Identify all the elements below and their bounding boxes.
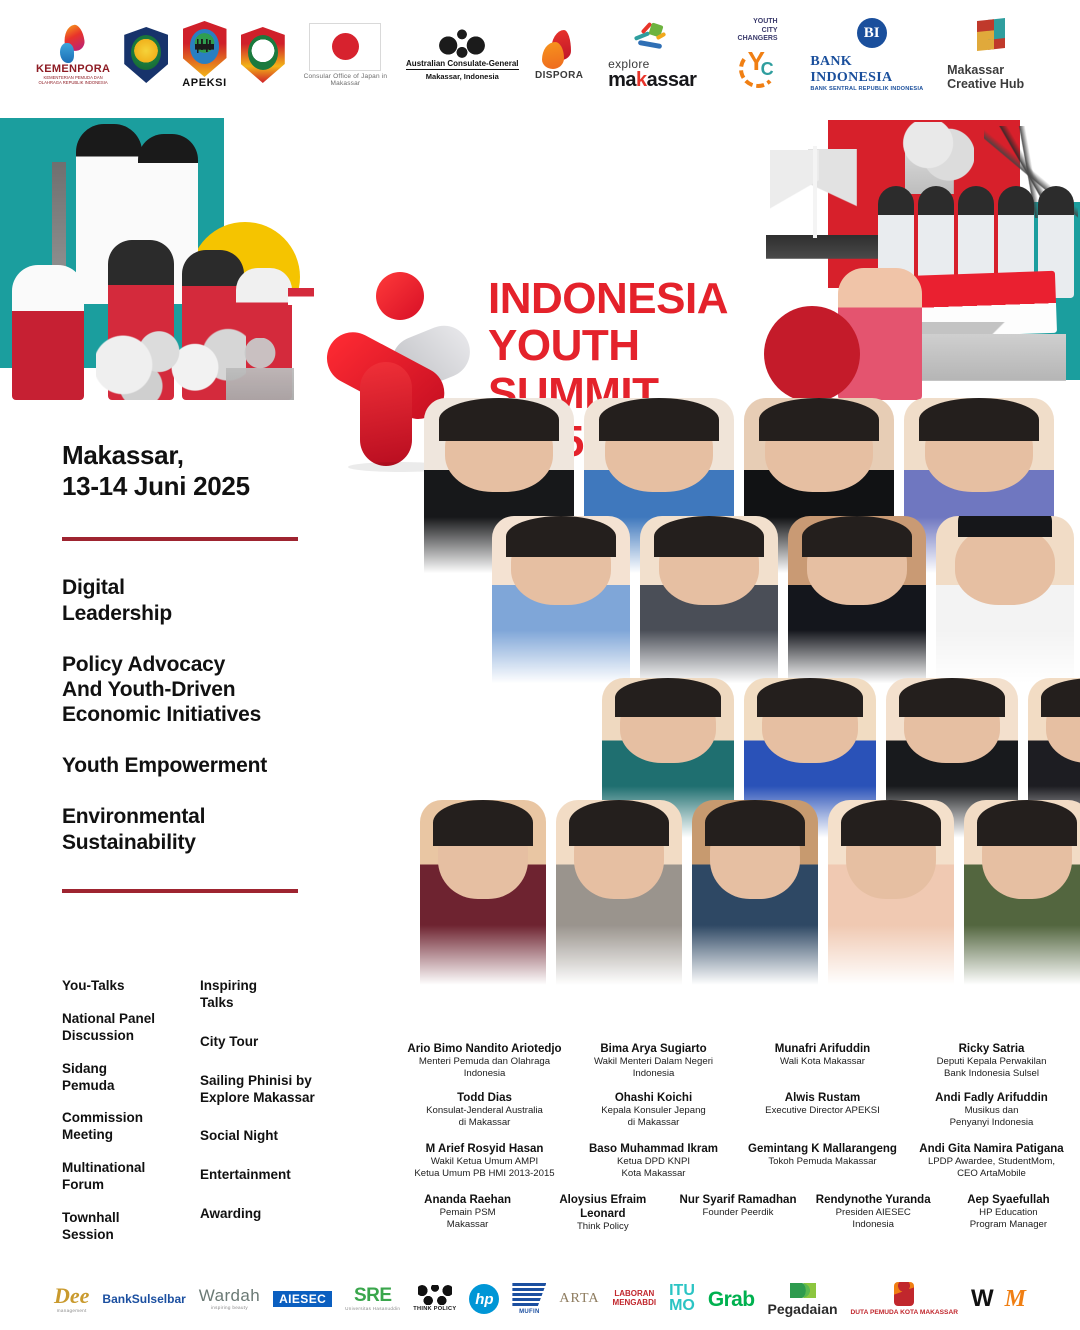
divider-bottom: [62, 889, 298, 893]
sponsor-duta-pemuda: DUTA PEMUDA KOTA MAKASSAR: [851, 1282, 958, 1317]
speaker-photo: [936, 516, 1074, 688]
sponsor-aiesec: AIESEC: [273, 1291, 332, 1307]
speaker-name: Ario Bimo Nandito Ariotedjo: [404, 1042, 565, 1056]
logo-bi-title: BANK INDONESIA: [810, 54, 933, 86]
speaker-caption: Aep Syaefullah HP EducationProgram Manag…: [941, 1193, 1076, 1234]
speaker-caption: Ricky Satria Deputi Kepala PerwakilanBan…: [907, 1042, 1076, 1081]
speaker-name: Ohashi Koichi: [573, 1091, 734, 1105]
sponsor-duta-label: DUTA PEMUDA KOTA MAKASSAR: [851, 1309, 958, 1317]
ycc-monogram-icon: Y C: [735, 46, 781, 92]
speaker-name: Bima Arya Sugiarto: [573, 1042, 734, 1056]
logo-japan-consulate: Consular Office of Japan in Makassar: [299, 23, 392, 88]
speaker-role: Deputi Kepala PerwakilanBank Indonesia S…: [911, 1056, 1072, 1081]
theme-environmental-sustainability: Environmental Sustainability: [62, 804, 362, 854]
sponsor-pegadaian: Pegadaian: [768, 1283, 838, 1316]
sponsor-sre-unhas: SRE Universitas Hasanuddin: [345, 1286, 400, 1312]
sponsor-grab: Grab: [708, 1289, 755, 1310]
caption-row-4: Ananda Raehan Pemain PSMMakassar Aloysiu…: [400, 1193, 1076, 1234]
w-logo-icon: W: [971, 1287, 992, 1311]
logo-explore-main: makassar: [608, 70, 696, 90]
agenda-item: City Tour: [200, 1034, 382, 1051]
speaker-name: Nur Syarif Ramadhan: [674, 1193, 801, 1207]
sponsor-dee-management: Dee management: [54, 1285, 89, 1314]
speaker-caption: Rendynothe Yuranda Presiden AIESECIndone…: [806, 1193, 941, 1234]
logo-ycc-line2: CITY: [738, 27, 778, 36]
agenda-item: CommissionMeeting: [62, 1110, 192, 1144]
mufin-icon: [512, 1283, 546, 1307]
logo-explore-makassar: explore makassar: [600, 20, 705, 90]
theme-youth-empowerment: Youth Empowerment: [62, 753, 362, 778]
speaker-role: Pemain PSMMakassar: [404, 1207, 531, 1232]
fort-rotterdam-silhouette: [916, 322, 1066, 400]
speaker-caption: Alwis Rustam Executive Director APEKSI: [738, 1091, 907, 1130]
grab-icon: Grab: [708, 1289, 755, 1310]
garuda-shield-icon: [124, 27, 168, 83]
agenda-item: TownhallSession: [62, 1210, 192, 1244]
sponsor-m-brand: M: [1005, 1287, 1026, 1311]
speaker-name: Todd Dias: [404, 1091, 565, 1105]
speaker-photo: [964, 800, 1080, 990]
speaker-photo-row-4: [420, 800, 1080, 990]
theme-2-line-3: Economic Initiatives: [62, 702, 362, 727]
japan-flag-icon: [309, 23, 381, 71]
city-shield-icon: [183, 21, 227, 77]
australia-crest-icon: [439, 29, 485, 59]
agenda-item: Entertainment: [200, 1167, 382, 1184]
theme-policy-advocacy: Policy Advocacy And Youth-Driven Economi…: [62, 652, 362, 728]
speaker-caption: Baso Muhammad Ikram Ketua DPD KNPIKota M…: [569, 1142, 738, 1181]
theme-1-line-2: Leadership: [62, 601, 362, 626]
sponsor-itumo-line2: MO: [669, 1299, 695, 1314]
speaker-caption: Ananda Raehan Pemain PSMMakassar: [400, 1193, 535, 1234]
speaker-role: Konsulat-Jenderal Australiadi Makassar: [404, 1105, 565, 1130]
agenda-column-left: You-Talks National PanelDiscussion Sidan…: [62, 978, 192, 1260]
sponsor-bank-sulselbar: BankSulselbar: [102, 1293, 185, 1305]
speaker-name: Andi Fadly Arifuddin: [911, 1091, 1072, 1105]
logo-explore-ma: ma: [608, 69, 636, 91]
speaker-name: Gemintang K Mallarangeng: [742, 1142, 903, 1156]
event-date: 13-14 Juni 2025: [62, 471, 362, 502]
speaker-role: Musikus danPenyanyi Indonesia: [911, 1105, 1072, 1130]
flame-icon: [541, 30, 577, 70]
event-location: Makassar,: [62, 440, 362, 471]
speaker-role: Founder Peerdik: [674, 1207, 801, 1219]
agenda-lists: You-Talks National PanelDiscussion Sidan…: [62, 978, 382, 1260]
duta-pemuda-icon: [894, 1282, 914, 1306]
hero-band: INDONESIA YOUTH SUMMIT 2025: [0, 110, 1080, 400]
speaker-photo: [640, 516, 778, 688]
speaker-photo: [788, 516, 926, 688]
caption-row-3: M Arief Rosyid Hasan Wakil Ketua Umum AM…: [400, 1142, 1076, 1181]
agenda-column-right: InspiringTalks City Tour Sailing Phinisi…: [200, 978, 382, 1260]
dee-script-icon: Dee: [54, 1285, 89, 1307]
logo-japan-caption: Consular Office of Japan in Makassar: [299, 73, 392, 88]
theme-1-line-1: Digital: [62, 575, 362, 600]
agenda-item: Sailing Phinisi byExplore Makassar: [200, 1073, 382, 1107]
title-line-1: INDONESIA: [488, 275, 728, 323]
arta-icon: ARTA: [559, 1292, 599, 1306]
speaker-name: Rendynothe Yuranda: [810, 1193, 937, 1207]
speaker-name: Aloysius Efraim Leonard: [539, 1193, 666, 1221]
speaker-role: Kepala Konsuler Jepangdi Makassar: [573, 1105, 734, 1130]
speaker-caption: M Arief Rosyid Hasan Wakil Ketua Umum AM…: [400, 1142, 569, 1181]
speaker-caption: Andi Fadly Arifuddin Musikus danPenyanyi…: [907, 1091, 1076, 1130]
sponsor-mufin-label: MUFIN: [519, 1309, 540, 1315]
speaker-name: Munafri Arifuddin: [742, 1042, 903, 1056]
logo-kemendagri: [124, 27, 168, 83]
agenda-item: MultinationalForum: [62, 1160, 192, 1194]
hero-collage-left: [0, 110, 340, 400]
caption-row-2: Todd Dias Konsulat-Jenderal Australiadi …: [400, 1091, 1076, 1130]
logo-sulsel: [241, 27, 285, 83]
aiesec-icon: AIESEC: [273, 1291, 332, 1307]
itumo-icon: ITU MO: [669, 1284, 695, 1313]
agenda-item: Social Night: [200, 1128, 382, 1145]
sponsor-laboran-mengabdi: LABORAN MENGABDI: [613, 1290, 657, 1308]
speaker-role: Wakil Menteri Dalam NegeriIndonesia: [573, 1056, 734, 1081]
logo-australia-title: Australian Consulate-General: [406, 59, 518, 70]
logo-kemenpora: KEMENPORA KEMENTERIAN PEMUDA DAN OLAHRAG…: [36, 25, 110, 86]
speaker-role: Ketua DPD KNPIKota Makassar: [573, 1156, 734, 1181]
speaker-caption: Ario Bimo Nandito Ariotedjo Menteri Pemu…: [400, 1042, 569, 1081]
sre-icon: SRE: [354, 1286, 392, 1305]
sponsor-dee-sub: management: [57, 1309, 87, 1314]
speaker-caption: Gemintang K Mallarangeng Tokoh Pemuda Ma…: [738, 1142, 907, 1181]
speaker-captions: Ario Bimo Nandito Ariotedjo Menteri Pemu…: [400, 1042, 1076, 1233]
logo-ycc-c: C: [761, 60, 774, 78]
sponsor-logo-bar: Dee management BankSulselbar Wardah insp…: [0, 1268, 1080, 1330]
theme-4-line-1: Environmental: [62, 804, 362, 829]
speaker-role: Menteri Pemuda dan OlahragaIndonesia: [404, 1056, 565, 1081]
flame-torch-icon: [56, 25, 90, 63]
sponsor-sre-sub: Universitas Hasanuddin: [345, 1307, 400, 1312]
agenda-item: National PanelDiscussion: [62, 1011, 192, 1045]
logo-apeksi-label: APEKSI: [182, 77, 227, 89]
poster-root: KEMENPORA KEMENTERIAN PEMUDA DAN OLAHRAG…: [0, 0, 1080, 1330]
flower-collage: [96, 322, 246, 400]
agenda-item: You-Talks: [62, 978, 192, 995]
divider-top: [62, 537, 298, 541]
logo-apeksi: APEKSI: [182, 21, 227, 89]
speaker-name: Baso Muhammad Ikram: [573, 1142, 734, 1156]
youth-figure-selfie: [12, 265, 84, 400]
sponsor-wardah-sub: inspiring beauty: [211, 1306, 248, 1311]
speaker-caption: Nur Syarif Ramadhan Founder Peerdik: [670, 1193, 805, 1234]
sponsor-laboran-line2: MENGABDI: [613, 1299, 657, 1308]
logo-kemenpora-sub: KEMENTERIAN PEMUDA DAN OLAHRAGA REPUBLIK…: [36, 75, 110, 86]
logo-australia-consulate: Australian Consulate-General Makassar, I…: [406, 29, 518, 81]
event-location-date: Makassar, 13-14 Juni 2025: [62, 440, 362, 501]
speaker-photo: [692, 800, 818, 990]
logo-makassar-creative-hub: Makassar Creative Hub: [947, 19, 1044, 91]
caption-row-1: Ario Bimo Nandito Ariotedjo Menteri Pemu…: [400, 1042, 1076, 1081]
phinisi-ship-icon: [766, 146, 888, 278]
logo-mch-label: Makassar Creative Hub: [947, 63, 1044, 91]
sponsor-w-brand: W: [971, 1287, 992, 1311]
logo-ycc-line3: CHANGERS: [738, 35, 778, 44]
sponsor-mufin: MUFIN: [512, 1283, 546, 1315]
logo-bi-sub: BANK SENTRAL REPUBLIK INDONESIA: [810, 86, 933, 92]
speaker-name: Ananda Raehan: [404, 1193, 531, 1207]
speaker-role: Executive Director APEKSI: [742, 1105, 903, 1117]
logo-ycc-line1: YOUTH: [738, 18, 778, 27]
speaker-name: M Arief Rosyid Hasan: [404, 1142, 565, 1156]
agenda-item: InspiringTalks: [200, 978, 382, 1012]
logo-dispora: DISPORA: [533, 30, 586, 81]
m-logo-icon: M: [1005, 1287, 1026, 1311]
speaker-name: Alwis Rustam: [742, 1091, 903, 1105]
logo-ycc-text: YOUTH CITY CHANGERS: [738, 18, 778, 44]
speaker-role: Presiden AIESECIndonesia: [810, 1207, 937, 1232]
speaker-caption: Ohashi Koichi Kepala Konsuler Jepangdi M…: [569, 1091, 738, 1130]
mosque-silhouette: [226, 338, 294, 400]
speaker-photo: [492, 516, 630, 688]
logo-explore-assar: assar: [647, 69, 697, 91]
speaker-role: Wali Kota Makassar: [742, 1056, 903, 1068]
speaker-role: Tokoh Pemuda Makassar: [742, 1156, 903, 1168]
title-line-2: YOUTH: [488, 322, 728, 370]
speaker-caption: Munafri Arifuddin Wali Kota Makassar: [738, 1042, 907, 1081]
logo-kemenpora-label: KEMENPORA: [36, 63, 110, 75]
logo-explore-k: k: [636, 69, 647, 91]
sponsor-wardah: Wardah inspiring beauty: [199, 1287, 260, 1311]
sponsor-arta: ARTA: [559, 1292, 599, 1306]
bank-indonesia-icon: BI: [857, 18, 887, 48]
logo-australia-sub: Makassar, Indonesia: [426, 72, 499, 81]
red-circle: [764, 306, 860, 400]
theme-2-line-2: And Youth-Driven: [62, 677, 362, 702]
theme-2-line-1: Policy Advocacy: [62, 652, 362, 677]
hp-icon: hp: [469, 1284, 499, 1314]
agenda-item: Awarding: [200, 1206, 382, 1223]
province-shield-icon: [241, 27, 285, 83]
sponsor-itumo: ITU MO: [669, 1284, 695, 1313]
microscope-icon: LABORAN MENGABDI: [613, 1290, 657, 1308]
sponsor-think-policy-label: THINK POLICY: [413, 1307, 456, 1313]
speaker-caption: Todd Dias Konsulat-Jenderal Australiadi …: [400, 1091, 569, 1130]
agenda-item: SidangPemuda: [62, 1061, 192, 1095]
theme-4-line-2: Sustainability: [62, 830, 362, 855]
speaker-role: Think Policy: [539, 1221, 666, 1233]
mch-cube-icon: [977, 17, 1015, 59]
speaker-caption: Bima Arya Sugiarto Wakil Menteri Dalam N…: [569, 1042, 738, 1081]
speaker-name: Ricky Satria: [911, 1042, 1072, 1056]
sponsor-think-policy: THINK POLICY: [413, 1285, 456, 1313]
partner-logo-bar: KEMENPORA KEMENTERIAN PEMUDA DAN OLAHRAG…: [0, 0, 1080, 110]
sponsor-pegadaian-label: Pegadaian: [768, 1302, 838, 1316]
logo-youth-city-changers: YOUTH CITY CHANGERS Y C: [719, 18, 797, 92]
pegadaian-icon: [790, 1283, 816, 1298]
speaker-name: Aep Syaefullah: [945, 1193, 1072, 1207]
speaker-photo: [420, 800, 546, 990]
theme-3-line-1: Youth Empowerment: [62, 753, 362, 778]
sponsor-hp: hp: [469, 1284, 499, 1314]
sponsor-sulselbar-label: BankSulselbar: [102, 1293, 185, 1305]
speaker-role: Wakil Ketua Umum AMPIKetua Umum PB HMI 2…: [404, 1156, 565, 1181]
hero-collage-right: [760, 110, 1080, 400]
logo-bank-indonesia: BI BANK INDONESIA BANK SENTRAL REPUBLIK …: [810, 18, 933, 92]
speaker-caption: Aloysius Efraim Leonard Think Policy: [535, 1193, 670, 1234]
sponsor-sulselbar-b: Sulselbar: [132, 1292, 186, 1306]
speaker-photo-grid: [402, 398, 1074, 1038]
speaker-role: HP EducationProgram Manager: [945, 1207, 1072, 1232]
speaker-photo: [556, 800, 682, 990]
wardah-icon: Wardah: [199, 1287, 260, 1304]
indonesia-mini-flag-icon: [288, 288, 314, 305]
speaker-photo: [828, 800, 954, 990]
speaker-name: Andi Gita Namira Patigana: [911, 1142, 1072, 1156]
speaker-role: LPDP Awardee, StudentMom,CEO ArtaMobile: [911, 1156, 1072, 1181]
sponsor-sulselbar-a: Bank: [102, 1292, 131, 1306]
left-info-column: Makassar, 13-14 Juni 2025 Digital Leader…: [62, 440, 362, 927]
speaker-caption: Andi Gita Namira Patigana LPDP Awardee, …: [907, 1142, 1076, 1181]
speaker-photo-row-2: [492, 516, 1074, 688]
logo-dispora-label: DISPORA: [535, 70, 583, 81]
think-policy-network-icon: [418, 1285, 452, 1305]
theme-digital-leadership: Digital Leadership: [62, 575, 362, 625]
explore-ribbon-icon: [632, 20, 672, 54]
